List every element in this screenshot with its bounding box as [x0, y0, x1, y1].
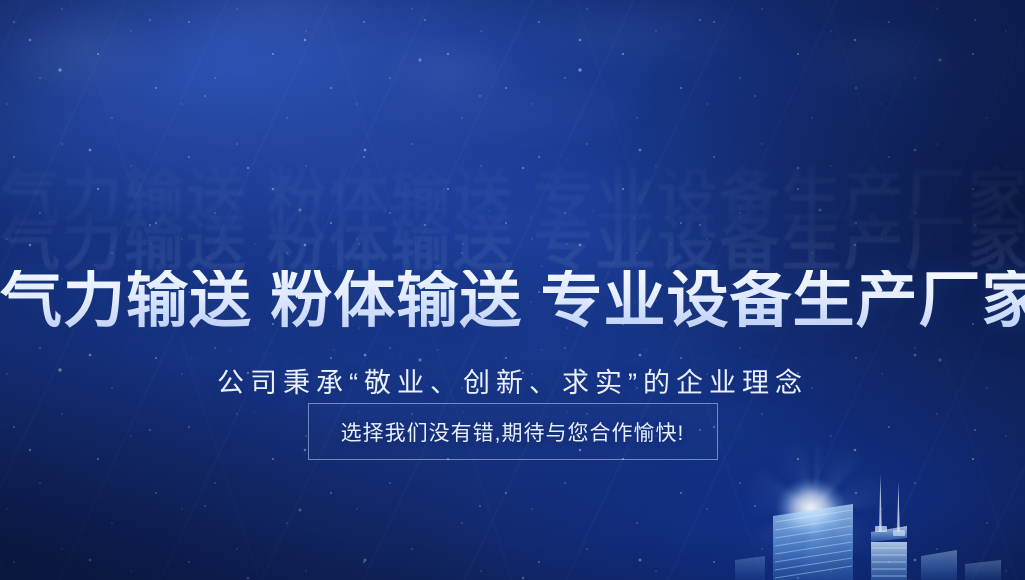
banner-content: 气力输送 粉体输送 专业设备生产厂家 公司秉承“敬业、创新、求实”的企业理念 选… [0, 0, 1025, 580]
hero-banner: 气力输送 粉体输送 专业设备生产厂家 气力输送 粉体输送 专业设备生产厂家 气力… [0, 0, 1025, 580]
cta-button-label: 选择我们没有错,期待与您合作愉快! [341, 417, 685, 447]
page-title: 气力输送 粉体输送 专业设备生产厂家 [0, 270, 1025, 332]
cta-button[interactable]: 选择我们没有错,期待与您合作愉快! [308, 403, 718, 460]
banner-subtitle: 公司秉承“敬业、创新、求实”的企业理念 [0, 367, 1025, 399]
cta-wrapper: 选择我们没有错,期待与您合作愉快! [0, 403, 1025, 460]
